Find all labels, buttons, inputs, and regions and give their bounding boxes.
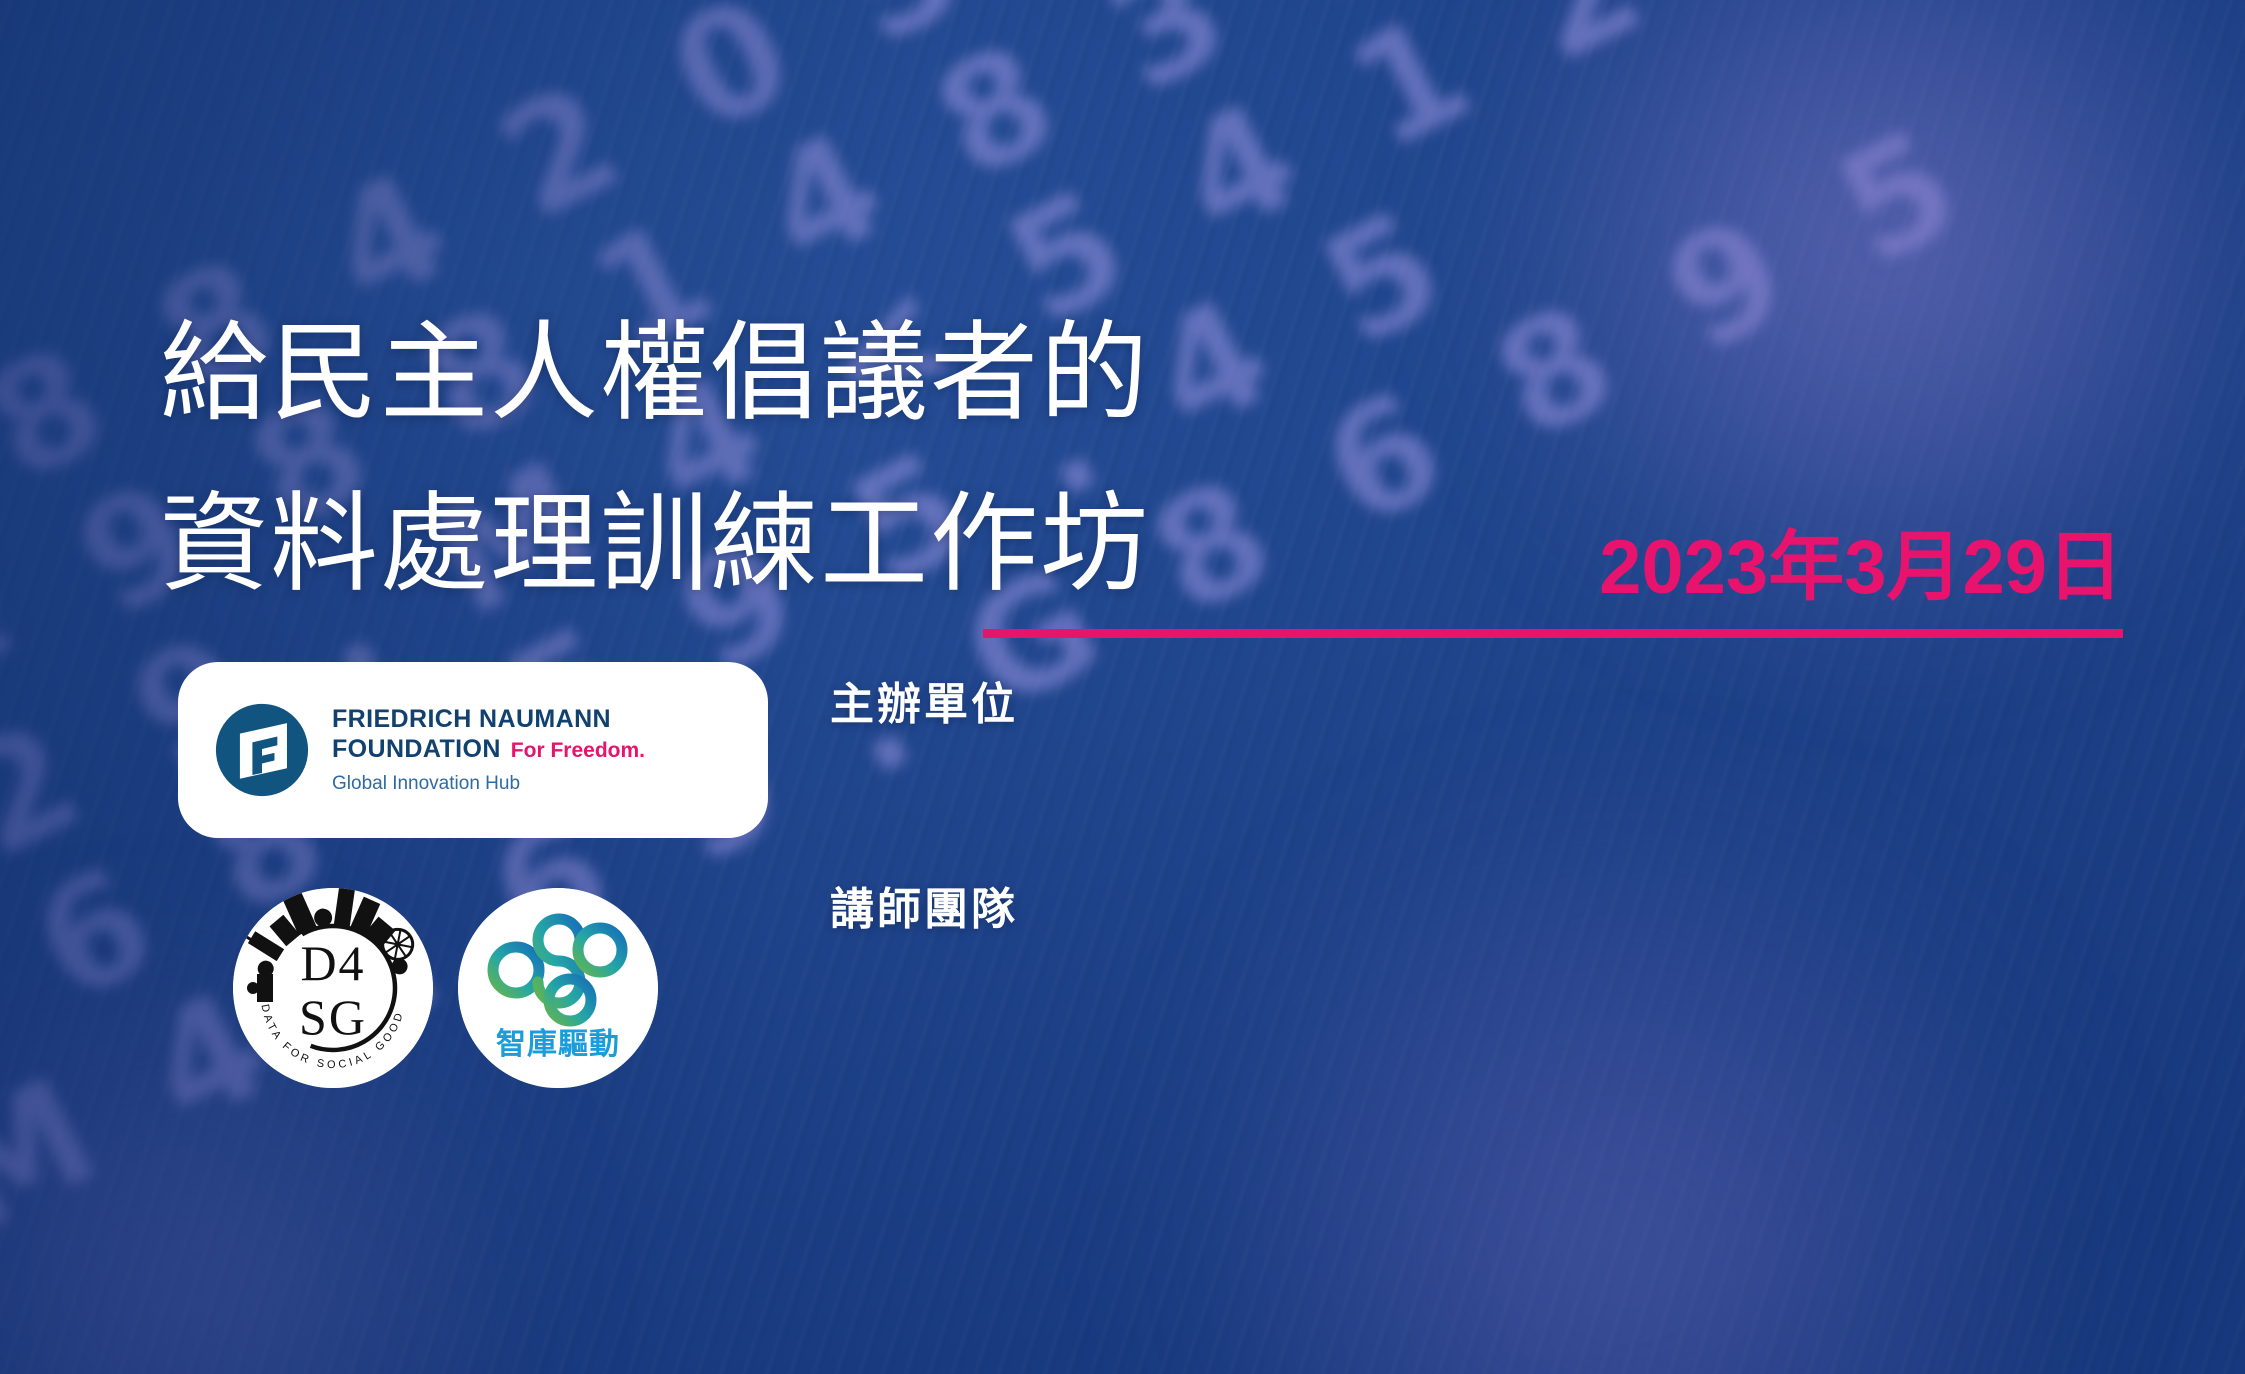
fnf-name-line-2: FOUNDATION — [332, 735, 501, 765]
dsp-name: 智庫驅動 — [496, 1028, 620, 1061]
fnf-logo-card: FRIEDRICH NAUMANN FOUNDATION For Freedom… — [178, 662, 768, 838]
d4sg-logo: D4 SG DATA FOR SOCIAL GOOD — [233, 888, 433, 1088]
title-line-1: 給民主人權倡議者的 — [160, 288, 1320, 459]
fnf-f-mark-icon — [214, 702, 310, 798]
date-underline-rule — [983, 629, 2123, 638]
title-slide: 7 9 8 8 4 2 0 5 1 6 = 9 8 8 1 4 8 3 6 1 … — [0, 0, 2245, 1374]
fnf-name-line-1: FRIEDRICH NAUMANN — [332, 705, 645, 735]
d4sg-line-2: SG — [299, 989, 367, 1045]
fnf-tagline: For Freedom. — [511, 739, 645, 764]
d4sg-logo-icon: D4 SG DATA FOR SOCIAL GOOD — [233, 888, 433, 1088]
dsp-logo: 智庫驅動 — [458, 888, 658, 1088]
instructors-label: 講師團隊 — [830, 873, 1018, 937]
organizer-label: 主辦單位 — [830, 668, 1018, 732]
event-date-block: 2023年3月29日 — [983, 528, 2123, 638]
d4sg-line-1: D4 — [300, 935, 365, 991]
fnf-subtitle: Global Innovation Hub — [332, 773, 645, 795]
event-date: 2023年3月29日 — [983, 528, 2123, 609]
dsp-logo-icon: 智庫驅動 — [458, 888, 658, 1088]
